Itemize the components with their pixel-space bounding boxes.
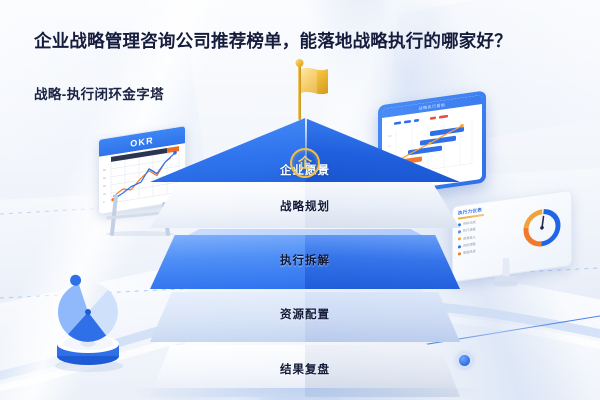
gauge-legend: 目标达成 执行进度 资源投入 风险预警 复盘改进 bbox=[458, 220, 476, 259]
pyramid-level-2-label: 战略规划 bbox=[150, 198, 460, 214]
page-title: 企业战略管理咨询公司推荐榜单，能落地战略执行的哪家好？ bbox=[34, 28, 574, 53]
legend-item: 复盘改进 bbox=[458, 249, 476, 256]
legend-item: 风险预警 bbox=[458, 242, 476, 249]
pyramid-level-4[interactable]: 资源配置 bbox=[150, 292, 460, 342]
svg-text:60: 60 bbox=[103, 176, 106, 181]
legend-item: 执行进度 bbox=[458, 227, 476, 234]
company-emblem-icon: 企 bbox=[290, 148, 320, 178]
gauge-card: 执行力仪表 目标达成 执行进度 资源投入 风险预警 bbox=[452, 198, 570, 294]
path-node-marker bbox=[459, 355, 470, 366]
legend-label: 执行进度 bbox=[463, 227, 476, 233]
legend-label: 目标达成 bbox=[463, 220, 476, 226]
emblem-char: 企 bbox=[298, 156, 312, 170]
legend-label: 资源投入 bbox=[463, 235, 476, 241]
gauge-card-stand bbox=[494, 258, 518, 290]
poster-canvas: 企业战略管理咨询公司推荐榜单，能落地战略执行的哪家好？ 战略-执行闭环金字塔 O… bbox=[0, 0, 600, 400]
svg-text:40: 40 bbox=[103, 184, 106, 189]
pyramid-level-3[interactable]: 执行拆解 bbox=[150, 235, 460, 289]
pyramid-level-2[interactable]: 战略规划 bbox=[150, 182, 460, 228]
strategy-pyramid: 结果复盘 资源配置 执行拆解 战略规划 bbox=[150, 96, 460, 372]
pyramid-base-glow bbox=[125, 388, 485, 400]
pie-chart-sculpture bbox=[34, 268, 142, 376]
pyramid-level-5-label: 结果复盘 bbox=[150, 361, 460, 377]
legend-item: 目标达成 bbox=[458, 220, 476, 227]
legend-item: 资源投入 bbox=[458, 235, 476, 242]
svg-text:80: 80 bbox=[103, 168, 106, 173]
legend-label: 复盘改进 bbox=[463, 249, 476, 255]
pyramid-level-1[interactable]: 企 企业愿景 bbox=[150, 118, 460, 182]
flag-icon bbox=[274, 56, 336, 120]
legend-label: 风险预警 bbox=[463, 242, 476, 248]
gauge-donut-chart bbox=[519, 202, 565, 254]
pyramid-level-3-label: 执行拆解 bbox=[150, 252, 460, 268]
page-subtitle: 战略-执行闭环金字塔 bbox=[34, 83, 164, 103]
pyramid-level-4-label: 资源配置 bbox=[150, 306, 460, 322]
